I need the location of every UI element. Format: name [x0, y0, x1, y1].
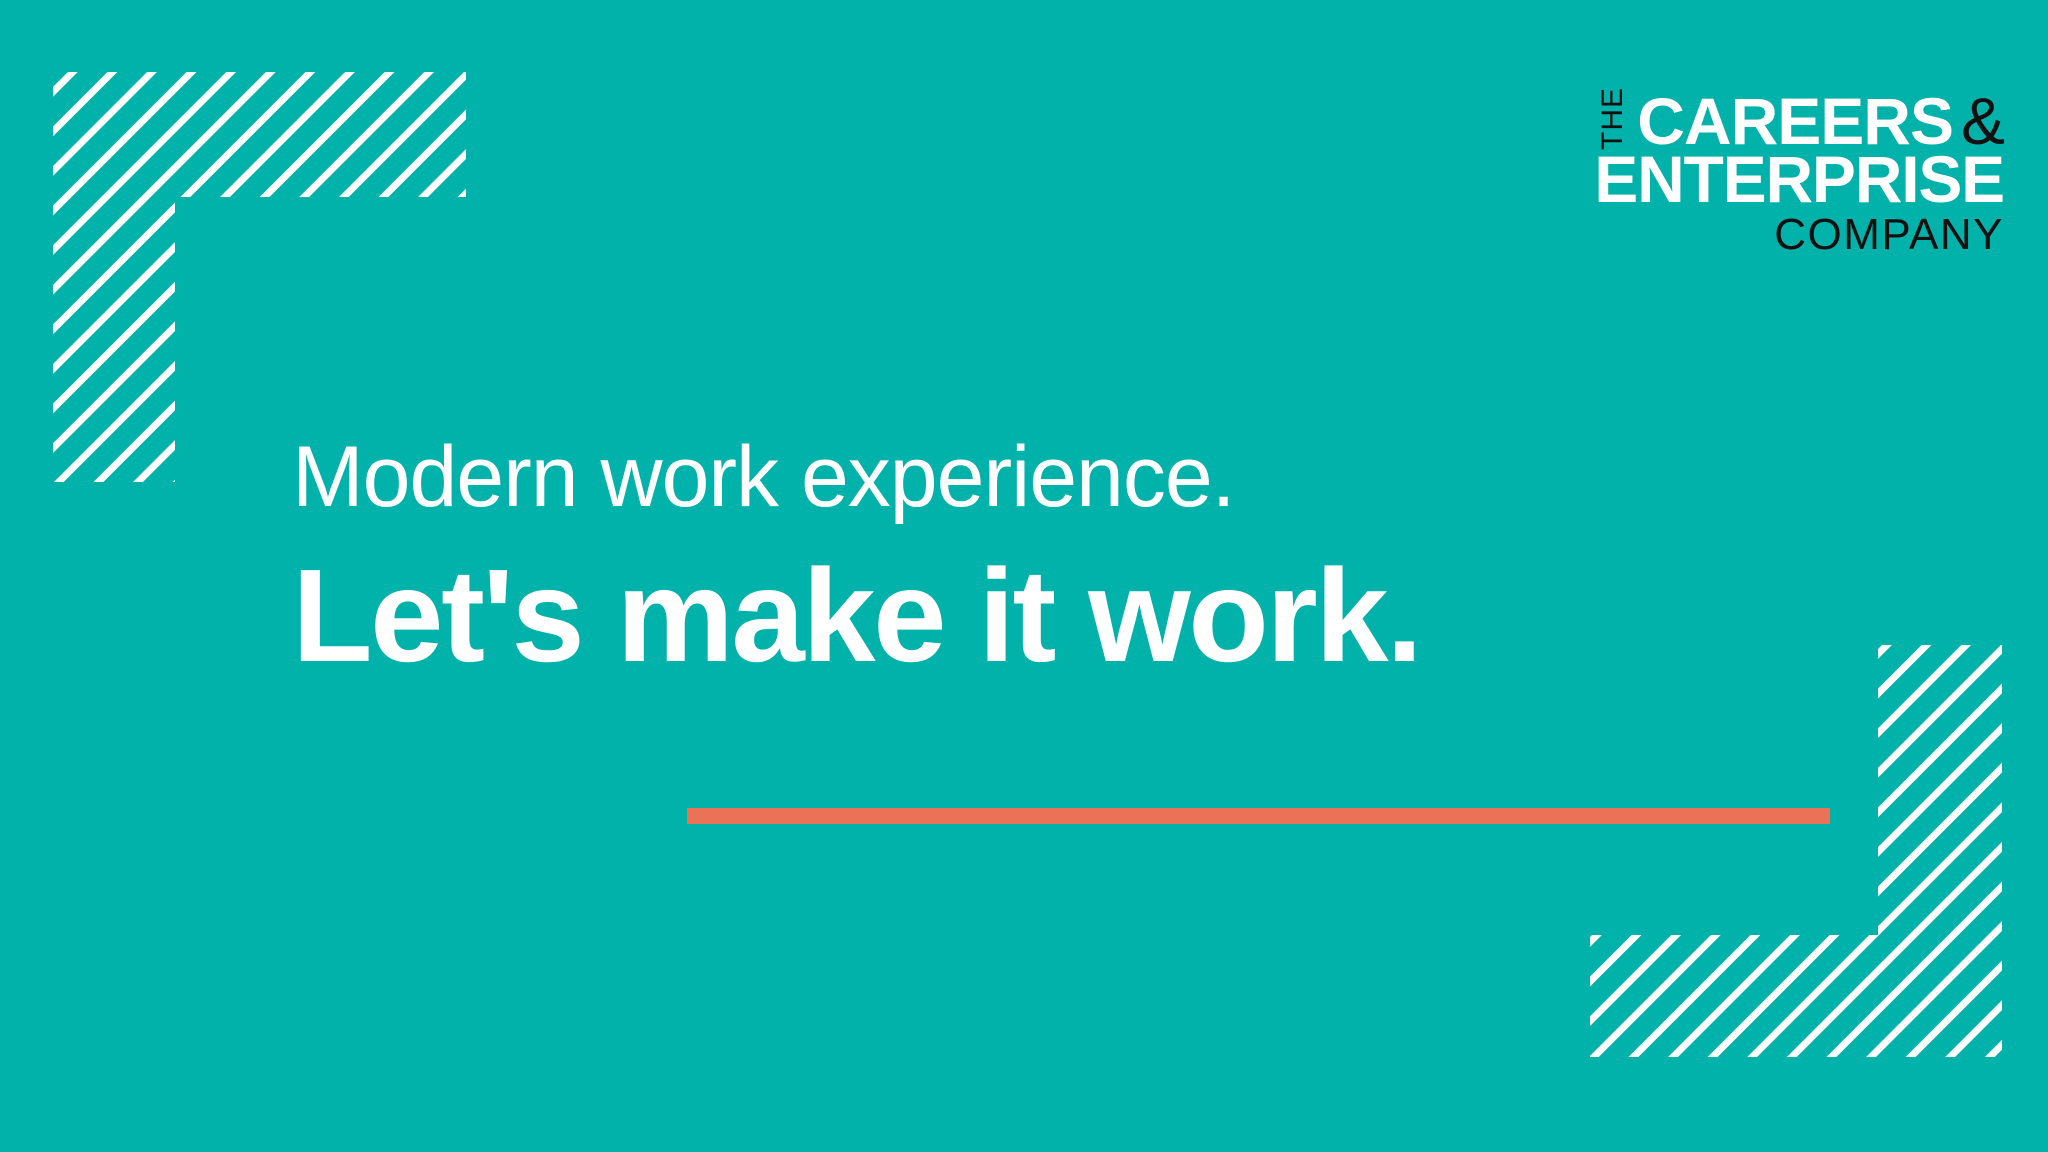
- hatched-corner-top-left-icon: [53, 72, 466, 482]
- headline-subtitle: Modern work experience.: [292, 430, 1892, 525]
- hatched-corner-bottom-right-icon: [1590, 645, 2002, 1057]
- logo-word-the: THE: [1598, 82, 1628, 150]
- headline-title: Let's make it work.: [292, 543, 1892, 688]
- accent-underline-rule: [687, 808, 1830, 824]
- slide-canvas: THE CAREERS & ENTERPRISE COMPANY Modern …: [0, 0, 2048, 1152]
- brand-logo: THE CAREERS & ENTERPRISE COMPANY: [1484, 76, 2004, 266]
- logo-word-company: COMPANY: [1484, 213, 2004, 257]
- logo-line-one: THE CAREERS &: [1484, 76, 2004, 152]
- headline-block: Modern work experience. Let's make it wo…: [292, 430, 1892, 688]
- logo-word-enterprise: ENTERPRISE: [1484, 148, 2004, 211]
